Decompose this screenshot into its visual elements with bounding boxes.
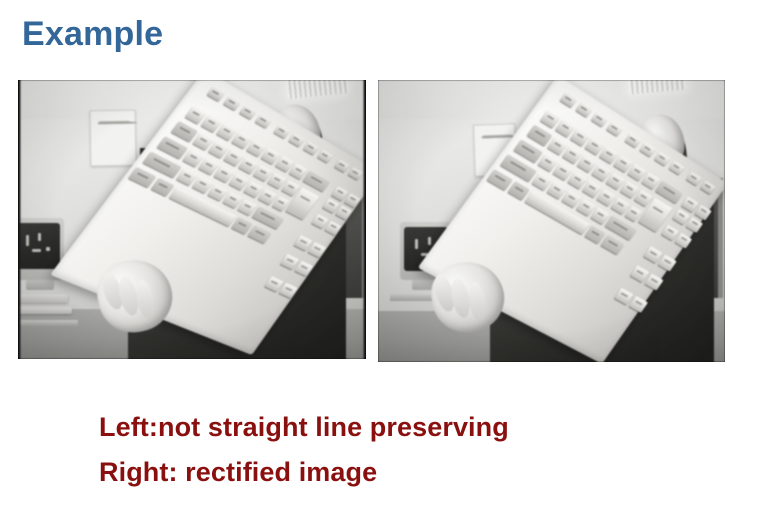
caption-right-image: Right: rectified image [99,455,377,489]
caption-left-image: Left:not straight line preserving [99,410,509,444]
key [625,133,641,148]
key-numpad [644,273,663,290]
key [560,92,577,107]
key [157,136,188,159]
key [527,125,553,147]
image-edge-left [18,80,21,359]
key [344,193,361,208]
key-numpad [658,254,677,271]
key [591,112,608,127]
key [654,152,670,166]
key [348,167,363,180]
key [171,121,198,142]
key-numpad [294,261,313,277]
key [239,105,256,120]
key [223,96,241,111]
key [576,102,593,117]
key [128,167,156,188]
key [317,150,333,164]
scene-right [378,80,725,362]
desk-edge [18,320,78,326]
key [247,225,271,244]
key [487,169,513,190]
photo-right-rectified [378,80,725,362]
key-numpad [629,296,648,313]
photo-left-original [18,80,366,359]
key [686,172,702,186]
key [274,125,291,139]
crt-stand [26,280,54,290]
key-numpad [279,283,298,299]
desk-tray [18,307,72,314]
key [288,133,304,147]
key [303,141,319,155]
key [686,217,703,233]
key [324,221,341,236]
key [675,233,693,249]
key [255,114,272,128]
key [700,180,715,194]
key [335,205,352,220]
key [600,235,624,255]
photo-right-canvas [378,80,725,362]
key [207,86,225,101]
key-numpad [308,242,327,258]
key [334,159,349,172]
scene-left [18,80,366,359]
image-edge-right [363,80,366,359]
desk-keyboard [18,294,68,303]
key [669,161,685,175]
key [606,122,623,137]
key [640,142,656,157]
key [694,204,711,220]
photo-left-canvas [18,80,366,359]
